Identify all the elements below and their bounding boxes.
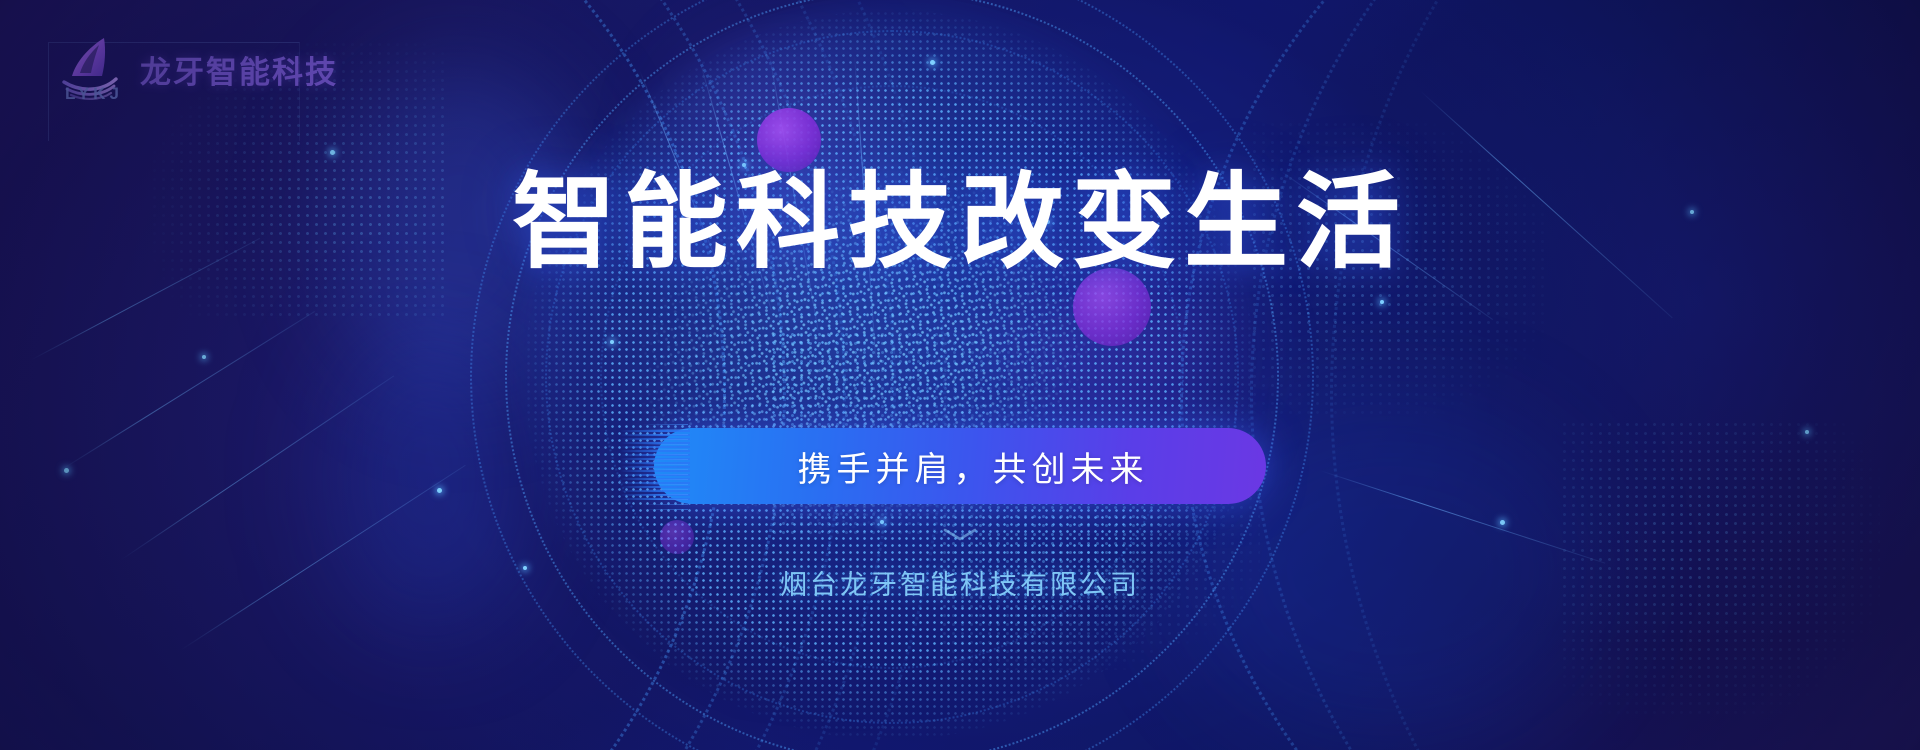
sailboat-logo-icon: LYKJ (58, 32, 132, 106)
glow-node (1500, 520, 1505, 525)
company-name: 烟台龙牙智能科技有限公司 (0, 563, 1920, 602)
hero-banner: LYKJ 龙牙智能科技 智能科技改变生活 携手并肩，共创未来 烟台龙牙智能科技有… (0, 0, 1920, 750)
glow-node (202, 355, 206, 359)
chevron-down-icon[interactable] (0, 528, 1920, 542)
purple-accent-dot (757, 108, 821, 172)
glitch-edge-decor (620, 430, 690, 502)
subtitle-label: 携手并肩，共创未来 (772, 442, 1149, 491)
brand-logo[interactable]: LYKJ 龙牙智能科技 (58, 32, 338, 106)
subtitle-pill[interactable]: 携手并肩，共创未来 (654, 428, 1266, 504)
glitch-edge-decor (642, 424, 688, 510)
brand-name-cn: 龙牙智能科技 (140, 47, 338, 92)
subtitle-banner: 携手并肩，共创未来 (0, 428, 1920, 504)
brand-name-en: LYKJ (65, 84, 123, 104)
page-title: 智能科技改变生活 (0, 165, 1920, 281)
